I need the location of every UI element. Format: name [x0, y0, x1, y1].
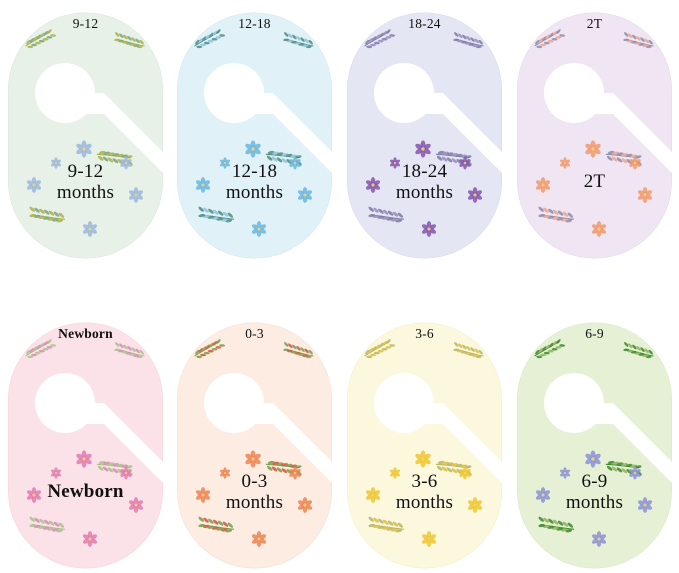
closet-divider-9-12-months[interactable]: 9-129-12 months: [8, 13, 163, 258]
divider-body: [8, 13, 163, 259]
divider-body: [517, 13, 672, 259]
divider-shape: [8, 323, 163, 568]
divider-shape: [347, 323, 502, 568]
closet-divider-0-3-months[interactable]: 0-30-3 months: [177, 323, 332, 568]
divider-shape: [517, 323, 672, 568]
closet-divider-3-6-months[interactable]: 3-63-6 months: [347, 323, 502, 568]
divider-body: [347, 13, 502, 259]
closet-divider-6-9-months[interactable]: 6-96-9 months: [517, 323, 672, 568]
divider-body: [347, 323, 502, 569]
divider-shape: [8, 13, 163, 258]
divider-body: [517, 323, 672, 569]
closet-divider-12-18-months[interactable]: 12-1812-18 months: [177, 13, 332, 258]
divider-body: [177, 13, 332, 259]
closet-dividers-sheet: 9-129-12 months12-1812-18 months18-2418-…: [0, 0, 679, 573]
divider-shape: [177, 323, 332, 568]
divider-shape: [347, 13, 502, 258]
divider-shape: [517, 13, 672, 258]
closet-divider-newborn[interactable]: NewbornNewborn: [8, 323, 163, 568]
closet-divider-18-24-months[interactable]: 18-2418-24 months: [347, 13, 502, 258]
divider-body: [177, 323, 332, 569]
closet-divider-2T[interactable]: 2T2T: [517, 13, 672, 258]
divider-body: [8, 323, 163, 569]
divider-shape: [177, 13, 332, 258]
